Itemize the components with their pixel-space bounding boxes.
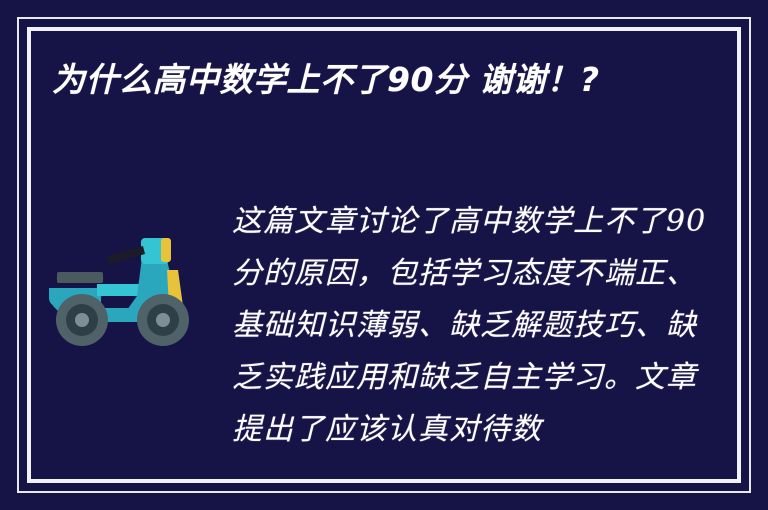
- page-title: 为什么高中数学上不了90分 谢谢！?: [52, 58, 722, 102]
- title-block: 为什么高中数学上不了90分 谢谢！?: [52, 58, 722, 102]
- paragraph-block: 这篇文章讨论了高中数学上不了90分的原因，包括学习态度不端正、基础知识薄弱、缺乏…: [232, 196, 768, 456]
- motor-scooter-icon: [41, 210, 191, 350]
- content-row: 这篇文章讨论了高中数学上不了90分的原因，包括学习态度不端正、基础知识薄弱、缺乏…: [0, 196, 768, 456]
- article-summary-text: 这篇文章讨论了高中数学上不了90分的原因，包括学习态度不端正、基础知识薄弱、缺乏…: [232, 196, 716, 456]
- illustration-container: [0, 196, 232, 350]
